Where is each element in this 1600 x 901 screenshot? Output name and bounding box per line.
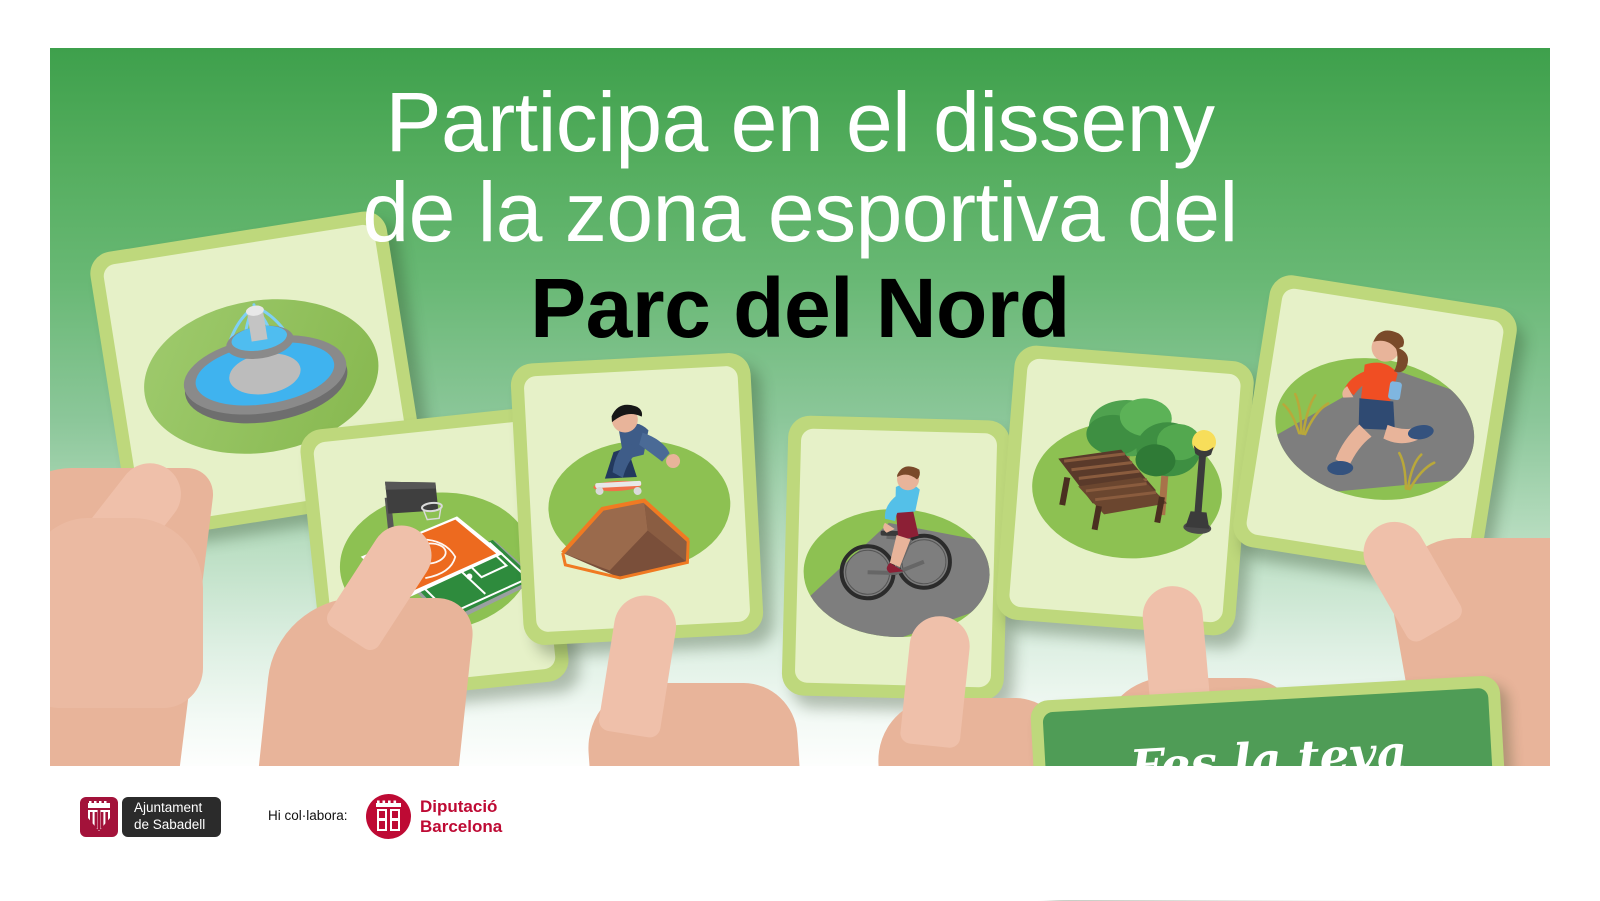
collaborator-label: Hi col·labora: xyxy=(268,808,348,823)
logo-diputacio-barcelona[interactable]: Diputació Barcelona xyxy=(366,794,502,839)
headline-line-1: Participa en el disseny xyxy=(50,58,1550,164)
ajuntament-line-2: de Sabadell xyxy=(134,817,205,834)
footer-logos: Ajuntament de Sabadell Hi col·labora: xyxy=(0,766,1600,900)
diputacio-line-1: Diputació xyxy=(420,797,497,816)
diputacio-label: Diputació Barcelona xyxy=(420,797,502,835)
sabadell-crest-icon xyxy=(80,797,118,837)
hand-knuckles xyxy=(50,518,203,708)
hand-left-2 xyxy=(235,478,535,766)
hand-center-3 xyxy=(550,543,850,766)
diputacio-line-2: Barcelona xyxy=(420,817,502,836)
diputacio-crest-icon xyxy=(366,794,411,839)
ajuntament-label-box: Ajuntament de Sabadell xyxy=(122,797,221,837)
logo-ajuntament-sabadell[interactable]: Ajuntament de Sabadell xyxy=(80,797,221,837)
ajuntament-line-1: Ajuntament xyxy=(134,800,205,817)
banner-panel: Participa en el disseny de la zona espor… xyxy=(50,48,1550,766)
